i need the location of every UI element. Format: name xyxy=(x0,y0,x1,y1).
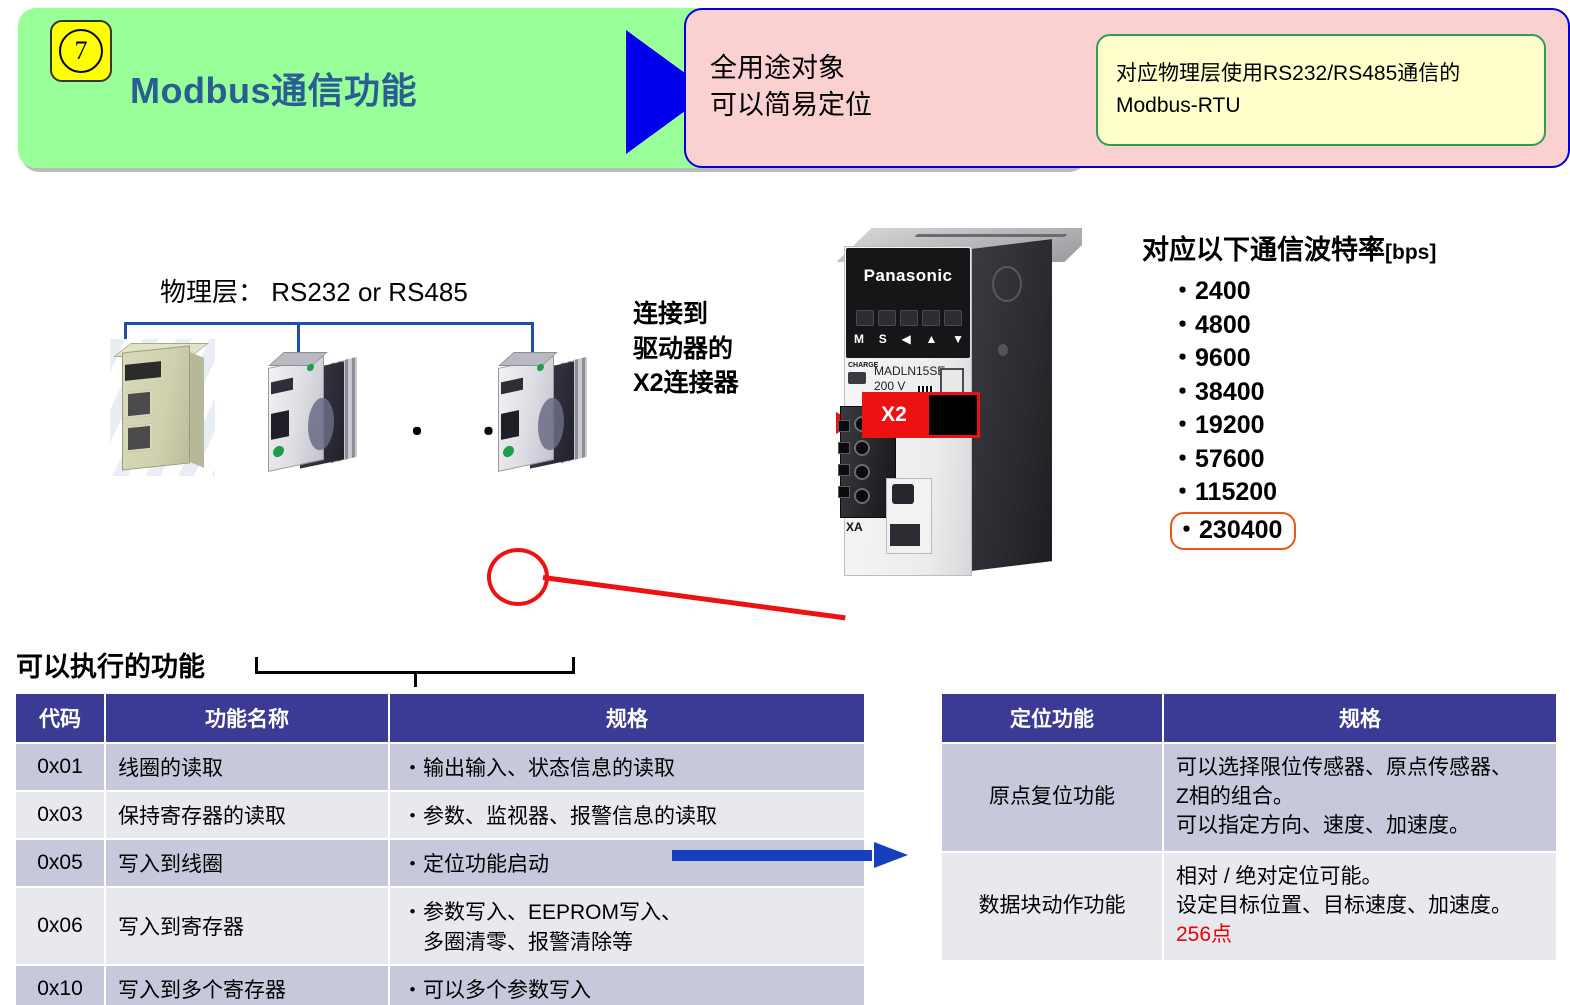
col-header-code: 代码 xyxy=(15,693,105,743)
cell-name: 写入到寄存器 xyxy=(105,887,389,965)
drive-top-line xyxy=(914,234,1067,237)
baud-rate-item-highlighted: 230400 xyxy=(1170,512,1296,551)
baud-rate-title-text: 对应以下通信波特率 xyxy=(1142,235,1385,265)
physical-layer-label: 物理层： RS232 or RS485 xyxy=(160,272,468,309)
cell-spec: 可以选择限位传感器、原点传感器、 Z相的组合。 可以指定方向、速度、加速度。 xyxy=(1163,743,1557,852)
plc-port-2 xyxy=(126,424,152,453)
x2-badge: X2 xyxy=(862,392,926,438)
drive-lower-connector xyxy=(892,484,914,504)
cell-code: 0x10 xyxy=(15,965,105,1005)
bus-line-horizontal xyxy=(124,322,534,325)
amp1-connector-bottom xyxy=(271,410,289,440)
xa-label: XA xyxy=(846,520,863,534)
col-header-positioning-function: 定位功能 xyxy=(941,693,1163,743)
baud-rate-item: 2400 xyxy=(1170,275,1436,309)
drive-side-dot xyxy=(998,344,1008,356)
cell-name: 写入到多个寄存器 xyxy=(105,965,389,1005)
cell-function-name: 原点复位功能 xyxy=(941,743,1163,852)
section-title: 可以执行的功能 xyxy=(16,645,205,684)
xa-slot-3 xyxy=(838,464,850,476)
drive-key-3[interactable] xyxy=(900,310,918,326)
table-row: 0x03 保持寄存器的读取 ・参数、监视器、报警信息的读取 xyxy=(15,791,865,839)
summary-line-1: 全用途对象 xyxy=(710,50,872,87)
page-title: Modbus通信功能 xyxy=(130,62,417,114)
drive-brand-label: Panasonic xyxy=(858,266,958,286)
cell-spec-highlight: 256点 xyxy=(1176,921,1544,950)
plc-controller-image xyxy=(110,339,215,476)
cell-code: 0x06 xyxy=(15,887,105,965)
flow-arrow-head xyxy=(874,842,908,868)
cell-spec: 相对 / 绝对定位可能。 设定目标位置、目标速度、加速度。 xyxy=(1176,865,1512,917)
table-row: 原点复位功能 可以选择限位传感器、原点传感器、 Z相的组合。 可以指定方向、速度… xyxy=(941,743,1557,852)
table-row: 0x10 写入到多个寄存器 ・可以多个参数写入 xyxy=(15,965,865,1005)
drive-key-label-left: ◀ xyxy=(901,332,910,346)
callout-line-red xyxy=(543,575,846,620)
cell-spec: ・输出输入、状态信息的读取 xyxy=(389,743,865,791)
baud-rate-item: 115200 xyxy=(1170,476,1436,510)
drive-lower-port xyxy=(890,524,920,546)
note-box: 对应物理层使用RS232/RS485通信的Modbus-RTU xyxy=(1096,34,1546,146)
baud-rate-item: 4800 xyxy=(1170,309,1436,343)
cell-spec: ・参数写入、EEPROM写入、 多圈清零、报警清除等 xyxy=(389,887,865,965)
drive-key-labels: M S ◀ ▲ ▼ xyxy=(854,332,964,346)
servo-amplifier-n-image xyxy=(492,350,587,470)
xa-screw-2 xyxy=(854,440,870,456)
cell-name: 写入到线圈 xyxy=(105,839,389,887)
baud-rate-item: 57600 xyxy=(1170,443,1436,477)
cell-spec: ・可以多个参数写入 xyxy=(389,965,865,1005)
xa-slot-1 xyxy=(838,420,850,432)
table-header-row: 定位功能 规格 xyxy=(941,693,1557,743)
cell-spec-wrapper: 相对 / 绝对定位可能。 设定目标位置、目标速度、加速度。 256点 xyxy=(1163,852,1557,961)
charge-lamp xyxy=(848,372,866,384)
drive-key-label-down: ▼ xyxy=(952,332,964,346)
connector-callout-line-2: 驱动器的 xyxy=(633,332,739,367)
axis-count-bracket xyxy=(255,657,575,689)
baud-rate-unit: [bps] xyxy=(1385,241,1436,264)
summary-box: 全用途对象 可以简易定位 对应物理层使用RS232/RS485通信的Modbus… xyxy=(684,8,1570,168)
drive-side-circle xyxy=(992,266,1022,302)
connector-callout-text: 连接到 驱动器的 X2连接器 xyxy=(633,297,739,401)
table-header-row: 代码 功能名称 规格 xyxy=(15,693,865,743)
table-row: 0x01 线圈的读取 ・输出输入、状态信息的读取 xyxy=(15,743,865,791)
slide-root: 7 Modbus通信功能 全用途对象 可以简易定位 对应物理层使用RS232/R… xyxy=(0,0,1570,1005)
col-header-name: 功能名称 xyxy=(105,693,389,743)
cell-function-name: 数据块动作功能 xyxy=(941,852,1163,961)
xa-screw-4 xyxy=(854,488,870,504)
connector-callout-line-1: 连接到 xyxy=(633,297,739,332)
cell-code: 0x01 xyxy=(15,743,105,791)
xa-screw-3 xyxy=(854,464,870,480)
connector-callout-line-3: X2连接器 xyxy=(633,366,739,401)
baud-rate-list: 2400 4800 9600 38400 19200 57600 115200 … xyxy=(1170,275,1436,550)
col-header-spec: 规格 xyxy=(1163,693,1557,743)
bracket-center-tick xyxy=(414,673,417,687)
flow-arrow-blue xyxy=(672,842,912,868)
cell-code: 0x03 xyxy=(15,791,105,839)
baud-rate-item: 19200 xyxy=(1170,409,1436,443)
baud-rate-item: 9600 xyxy=(1170,342,1436,376)
xa-slot-2 xyxy=(838,442,850,454)
summary-line-2: 可以简易定位 xyxy=(710,87,872,124)
table-row: 数据块动作功能 相对 / 绝对定位可能。 设定目标位置、目标速度、加速度。 25… xyxy=(941,852,1557,961)
drive-model: MADLN15SE xyxy=(874,364,945,379)
plc-side-face xyxy=(190,352,204,468)
drive-key-label-m: M xyxy=(854,332,864,346)
cell-code: 0x05 xyxy=(15,839,105,887)
step-badge: 7 xyxy=(50,20,112,82)
plc-port-1 xyxy=(126,390,152,419)
xa-slot-4 xyxy=(838,486,850,498)
summary-text: 全用途对象 可以简易定位 xyxy=(710,50,872,125)
note-text: 对应物理层使用RS232/RS485通信的Modbus-RTU xyxy=(1116,58,1536,121)
ampn-connector-bottom xyxy=(501,410,519,440)
drive-key-1[interactable] xyxy=(856,310,874,326)
cell-spec: ・参数、监视器、报警信息的读取 xyxy=(389,791,865,839)
baud-rate-title: 对应以下通信波特率[bps] xyxy=(1142,228,1436,267)
servo-amplifier-1-image xyxy=(262,350,357,470)
x2-connector-mask xyxy=(926,392,980,438)
drive-key-2[interactable] xyxy=(878,310,896,326)
drive-key-label-s: S xyxy=(879,332,887,346)
bracket-right-end xyxy=(572,657,575,673)
drive-model-label: MADLN15SE 200 V xyxy=(874,364,945,394)
x2-highlight-circle xyxy=(487,548,549,606)
cell-name: 保持寄存器的读取 xyxy=(105,791,389,839)
flow-arrow-shaft xyxy=(672,850,872,861)
baud-rate-item: 38400 xyxy=(1170,376,1436,410)
cell-name: 线圈的读取 xyxy=(105,743,389,791)
table-row: 0x06 写入到寄存器 ・参数写入、EEPROM写入、 多圈清零、报警清除等 xyxy=(15,887,865,965)
step-badge-number: 7 xyxy=(59,29,103,73)
drive-key-4[interactable] xyxy=(922,310,940,326)
col-header-spec: 规格 xyxy=(389,693,865,743)
positioning-function-table: 定位功能 规格 原点复位功能 可以选择限位传感器、原点传感器、 Z相的组合。 可… xyxy=(940,692,1558,962)
drive-key-label-up: ▲ xyxy=(925,332,937,346)
drive-key-5[interactable] xyxy=(944,310,962,326)
baud-rate-panel: 对应以下通信波特率[bps] 2400 4800 9600 38400 1920… xyxy=(1142,228,1436,550)
bracket-left-end xyxy=(255,657,258,673)
